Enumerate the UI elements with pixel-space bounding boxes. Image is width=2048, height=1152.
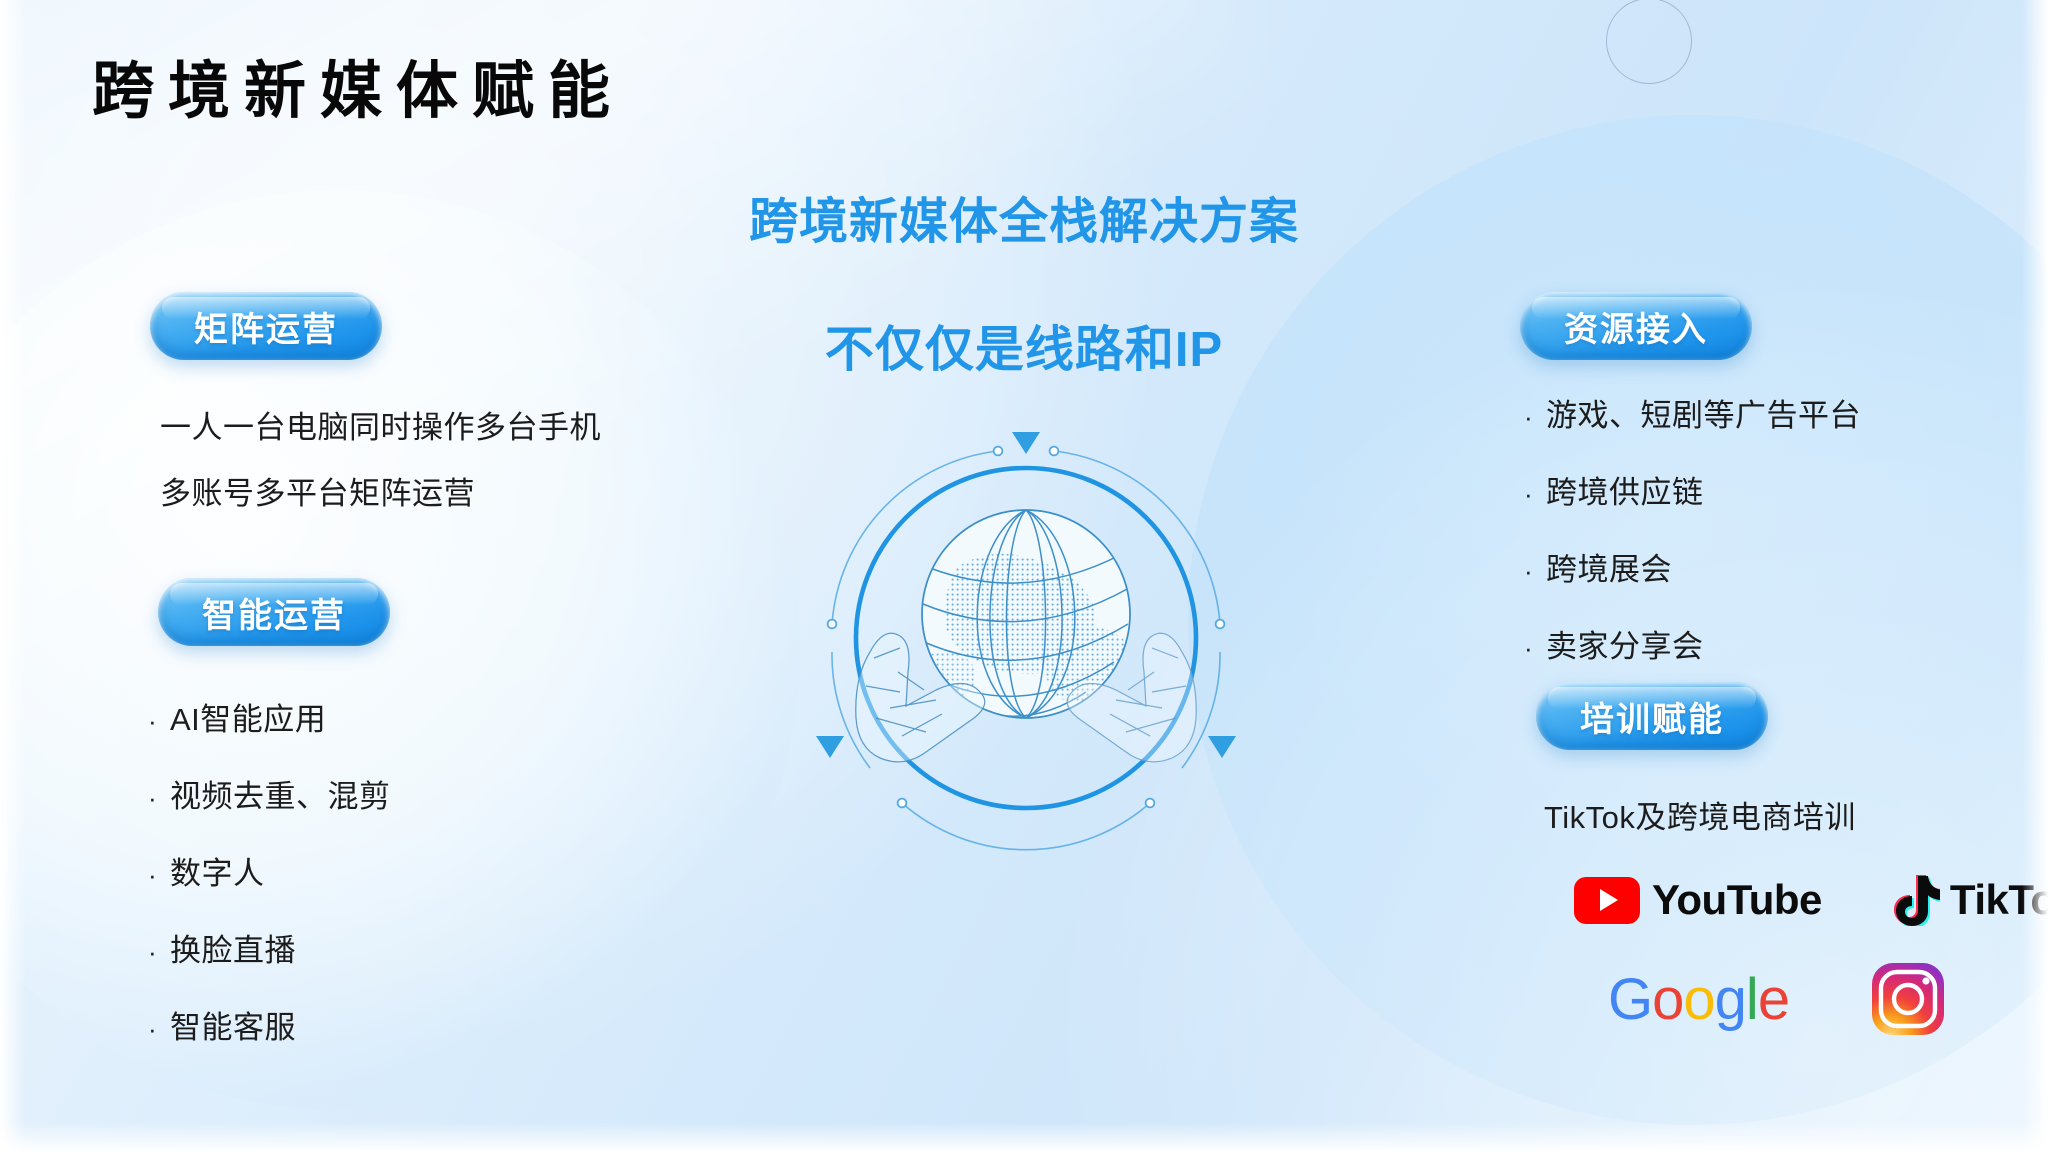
- slide-canvas: 跨境新媒体赋能 跨境新媒体全栈解决方案 不仅仅是线路和IP: [0, 0, 2048, 1152]
- instagram-logo[interactable]: [1871, 962, 1945, 1036]
- google-letter-e: e: [1758, 967, 1789, 1032]
- pill-training-empowerment[interactable]: 培训赋能: [1536, 682, 1768, 750]
- left-text-line-1: 一人一台电脑同时操作多台手机: [160, 402, 601, 447]
- logo-row-bottom: Google: [1608, 962, 1945, 1036]
- pill-matrix-operations[interactable]: 矩阵运营: [150, 292, 382, 360]
- bullet-mark: ·: [148, 783, 170, 814]
- center-headline-primary: 跨境新媒体全栈解决方案: [749, 182, 1299, 253]
- list-item-label: 游戏、短剧等广告平台: [1546, 390, 1861, 435]
- bullet-mark: ·: [148, 860, 170, 891]
- list-item-label: AI智能应用: [170, 694, 326, 739]
- globe-in-hands-illustration: [806, 418, 1246, 858]
- edge-fade-bottom: [0, 1122, 2048, 1152]
- bullet-mark: ·: [148, 706, 170, 737]
- center-headline-secondary: 不仅仅是线路和IP: [825, 310, 1223, 381]
- youtube-logo[interactable]: YouTube: [1574, 876, 1822, 924]
- bullet-mark: ·: [1524, 479, 1546, 510]
- edge-fade-left: [0, 0, 26, 1152]
- list-item-label: 跨境展会: [1546, 544, 1672, 589]
- list-item-label: 跨境供应链: [1546, 467, 1704, 512]
- youtube-label: YouTube: [1652, 876, 1822, 924]
- right-text-line-1: TikTok及跨境电商培训: [1544, 792, 1856, 837]
- youtube-play-icon: [1574, 877, 1640, 924]
- page-title: 跨境新媒体赋能: [92, 40, 624, 130]
- google-letter-o2: o: [1683, 967, 1714, 1032]
- google-letter-g1: G: [1608, 967, 1652, 1032]
- pill-smart-operations[interactable]: 智能运营: [158, 578, 390, 646]
- tiktok-note-icon: [1894, 874, 1940, 926]
- list-item: · AI智能应用: [148, 694, 391, 739]
- pill-resource-access[interactable]: 资源接入: [1520, 292, 1752, 360]
- edge-fade-right: [2022, 0, 2048, 1152]
- list-item: · 视频去重、混剪: [148, 771, 391, 816]
- list-item: · 数字人: [148, 848, 391, 893]
- list-item-label: 卖家分享会: [1546, 621, 1704, 666]
- left-bullet-list: · AI智能应用 · 视频去重、混剪 · 数字人 · 换脸直播 · 智能客服: [148, 694, 391, 1079]
- google-logo[interactable]: Google: [1608, 966, 1789, 1033]
- google-letter-g2: g: [1715, 967, 1746, 1032]
- bullet-mark: ·: [148, 1014, 170, 1045]
- logo-row-top: YouTube TikTok: [1574, 874, 2048, 926]
- bullet-mark: ·: [1524, 633, 1546, 664]
- list-item-label: 视频去重、混剪: [170, 771, 391, 816]
- google-letter-l: l: [1746, 967, 1758, 1032]
- list-item-label: 智能客服: [170, 1002, 296, 1047]
- list-item: · 跨境展会: [1524, 544, 1861, 589]
- right-bullet-list: · 游戏、短剧等广告平台 · 跨境供应链 · 跨境展会 · 卖家分享会: [1524, 390, 1861, 698]
- bullet-mark: ·: [1524, 402, 1546, 433]
- list-item: · 跨境供应链: [1524, 467, 1861, 512]
- list-item-label: 数字人: [170, 848, 265, 893]
- bullet-mark: ·: [1524, 556, 1546, 587]
- list-item-label: 换脸直播: [170, 925, 296, 970]
- background-circle-left: [0, 190, 800, 1110]
- decorative-ring-icon: [1606, 0, 1692, 84]
- list-item: · 智能客服: [148, 1002, 391, 1047]
- list-item: · 游戏、短剧等广告平台: [1524, 390, 1861, 435]
- list-item: · 卖家分享会: [1524, 621, 1861, 666]
- bullet-mark: ·: [148, 937, 170, 968]
- left-text-line-2: 多账号多平台矩阵运营: [160, 468, 475, 513]
- google-letter-o1: o: [1652, 967, 1683, 1032]
- list-item: · 换脸直播: [148, 925, 391, 970]
